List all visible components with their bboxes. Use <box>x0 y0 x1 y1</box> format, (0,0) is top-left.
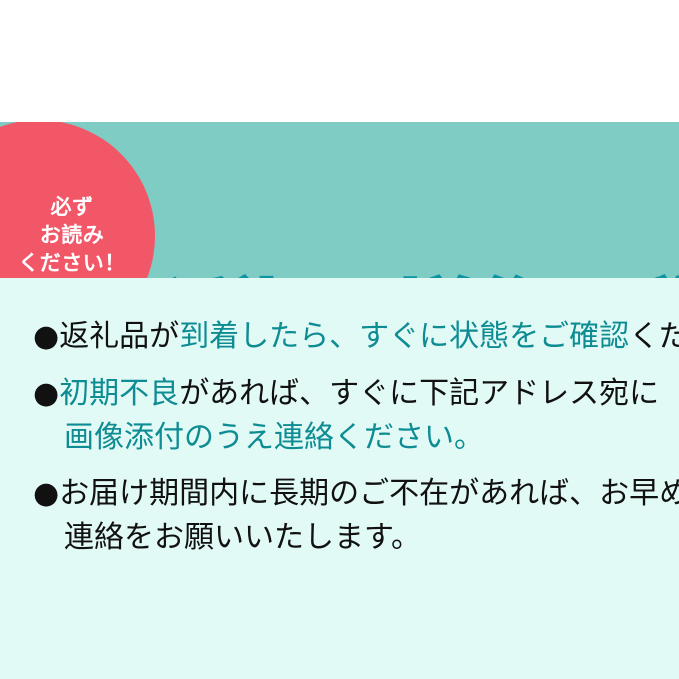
notice-body: ●返礼品が到着したら、すぐに状態をご確認くだ●初期不良があれば、すぐに下記アドレ… <box>0 278 679 679</box>
notice-page: 必ず お読み ください！ 返礼品到着後のご注 ●返礼品が到着したら、すぐに状態を… <box>0 0 679 679</box>
bullet-item: ●お届け期間内に長期のご不在があれば、お早め連絡をお願いいたします。 <box>33 472 679 560</box>
bullet-text-segment: があれば、すぐに下記アドレス宛に <box>179 376 659 411</box>
bullet-text-segment: お届け期間内に長期のご不在があれば、お早め <box>59 476 679 511</box>
bullet-marker: ● <box>33 319 59 354</box>
bullet-line-primary: ●返礼品が到着したら、すぐに状態をご確認くだ <box>33 315 679 359</box>
bullet-text-segment: 画像添付のうえ連絡ください。 <box>64 420 484 455</box>
bullet-text-segment: 到着したら、すぐに状態をご確認 <box>179 319 629 354</box>
bullet-marker: ● <box>33 376 59 411</box>
bullet-line-continuation: 連絡をお願いいたします。 <box>33 516 679 560</box>
bullet-item: ●返礼品が到着したら、すぐに状態をご確認くだ <box>33 315 679 359</box>
badge-line-3: ください！ <box>18 250 126 278</box>
bullet-text-segment: 返礼品が <box>59 319 179 354</box>
bullet-text-segment: くだ <box>629 319 679 354</box>
header-banner: 必ず お読み ください！ 返礼品到着後のご注 <box>0 122 679 278</box>
badge-line-1: 必ず <box>51 194 94 222</box>
bullet-line-continuation: 画像添付のうえ連絡ください。 <box>33 416 679 460</box>
bullet-line-primary: ●お届け期間内に長期のご不在があれば、お早め <box>33 472 679 516</box>
must-read-badge: 必ず お読み ください！ <box>0 122 155 278</box>
bullet-line-primary: ●初期不良があれば、すぐに下記アドレス宛に <box>33 372 679 416</box>
top-white-strip <box>0 0 679 122</box>
bullet-text-segment: 初期不良 <box>59 376 179 411</box>
badge-line-2: お読み <box>40 222 105 250</box>
bullet-item: ●初期不良があれば、すぐに下記アドレス宛に画像添付のうえ連絡ください。 <box>33 372 679 460</box>
bullet-list: ●返礼品が到着したら、すぐに状態をご確認くだ●初期不良があれば、すぐに下記アドレ… <box>33 315 679 573</box>
bullet-text-segment: 連絡をお願いいたします。 <box>64 520 421 555</box>
bullet-marker: ● <box>33 476 59 511</box>
